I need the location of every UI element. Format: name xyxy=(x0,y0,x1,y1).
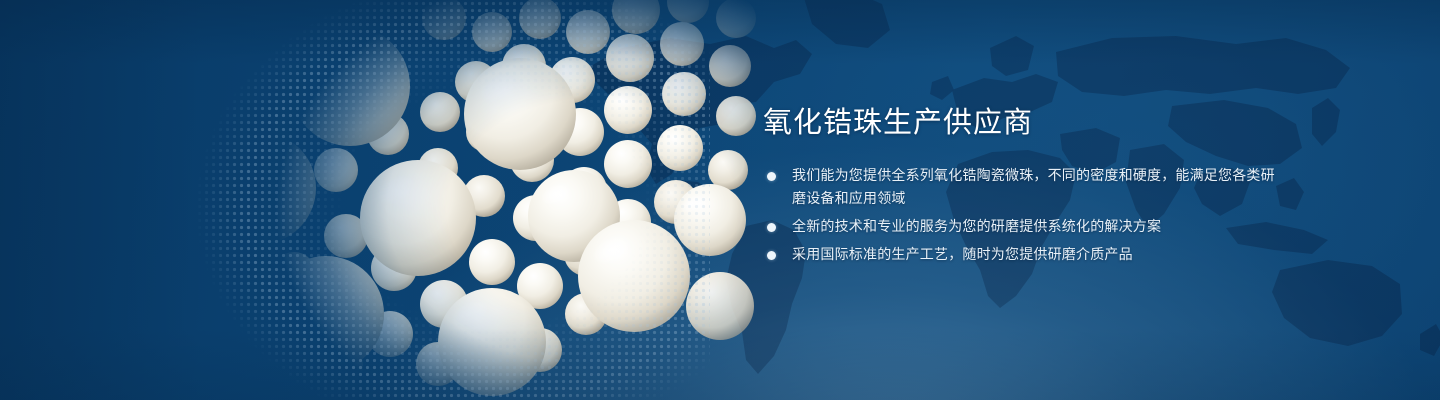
banner-copy-block: 氧化锆珠生产供应商 我们能为您提供全系列氧化锆陶瓷微珠，不同的密度和硬度，能满足… xyxy=(763,104,1283,266)
list-item: 采用国际标准的生产工艺，随时为您提供研磨介质产品 xyxy=(763,243,1283,266)
bullet-dot-icon xyxy=(767,223,776,232)
page-title: 氧化锆珠生产供应商 xyxy=(763,104,1283,142)
bullet-dot-icon xyxy=(767,251,776,260)
hero-banner: 氧化锆珠生产供应商 我们能为您提供全系列氧化锆陶瓷微珠，不同的密度和硬度，能满足… xyxy=(0,0,1440,400)
bullet-text: 采用国际标准的生产工艺，随时为您提供研磨介质产品 xyxy=(792,243,1283,266)
bullet-text: 全新的技术和专业的服务为您的研磨提供系统化的解决方案 xyxy=(792,215,1283,238)
feature-bullet-list: 我们能为您提供全系列氧化锆陶瓷微珠，不同的密度和硬度，能满足您各类研磨设备和应用… xyxy=(763,164,1283,266)
bullet-text: 我们能为您提供全系列氧化锆陶瓷微珠，不同的密度和硬度，能满足您各类研磨设备和应用… xyxy=(792,164,1283,210)
list-item: 全新的技术和专业的服务为您的研磨提供系统化的解决方案 xyxy=(763,215,1283,238)
list-item: 我们能为您提供全系列氧化锆陶瓷微珠，不同的密度和硬度，能满足您各类研磨设备和应用… xyxy=(763,164,1283,210)
bullet-dot-icon xyxy=(767,172,776,181)
zirconia-beads-photo xyxy=(88,0,788,400)
